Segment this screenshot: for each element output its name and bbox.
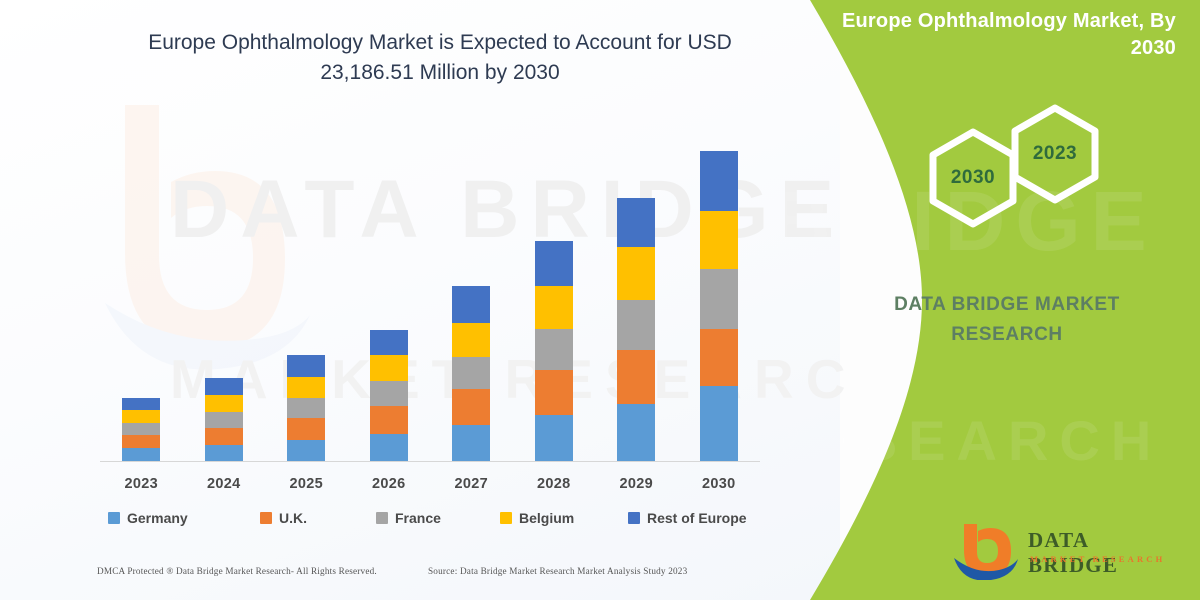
bar-segment-rest-of-europe-2028[interactable] (535, 241, 573, 286)
legend-swatch-icon (108, 512, 120, 524)
footer-copyright: DMCA Protected ® Data Bridge Market Rese… (97, 566, 377, 576)
panel-title: Europe Ophthalmology Market, By 2030 (836, 8, 1176, 62)
bar-segment-france-2028[interactable] (535, 329, 573, 370)
green-side-panel: BRIDGE RESEARCH Europe Ophthalmology Mar… (780, 0, 1200, 600)
x-label-2024: 2024 (189, 476, 259, 492)
bar-2024[interactable] (205, 378, 243, 461)
legend-swatch-icon (500, 512, 512, 524)
bar-segment-france-2024[interactable] (205, 412, 243, 428)
bar-segment-u-k--2025[interactable] (287, 418, 325, 440)
legend-swatch-icon (376, 512, 388, 524)
bar-segment-rest-of-europe-2024[interactable] (205, 378, 243, 395)
footer-source: Source: Data Bridge Market Research Mark… (428, 566, 687, 576)
legend-label: U.K. (279, 510, 307, 526)
legend-swatch-icon (260, 512, 272, 524)
bar-segment-france-2027[interactable] (452, 357, 490, 389)
x-label-2026: 2026 (354, 476, 424, 492)
bar-segment-belgium-2028[interactable] (535, 286, 573, 329)
bar-segment-germany-2023[interactable] (122, 448, 160, 461)
bar-segment-germany-2026[interactable] (370, 434, 408, 461)
bar-segment-france-2029[interactable] (617, 300, 655, 350)
legend-item-germany[interactable]: Germany (108, 510, 188, 526)
brand-line-2: RESEARCH (842, 320, 1172, 350)
bar-segment-germany-2030[interactable] (700, 386, 738, 461)
bar-2025[interactable] (287, 355, 325, 461)
legend-item-rest-of-europe[interactable]: Rest of Europe (628, 510, 747, 526)
bar-segment-belgium-2024[interactable] (205, 395, 243, 412)
legend-item-france[interactable]: France (376, 510, 441, 526)
bar-segment-u-k--2029[interactable] (617, 350, 655, 404)
brand-line-1: DATA BRIDGE MARKET (842, 290, 1172, 320)
x-label-2029: 2029 (601, 476, 671, 492)
bar-segment-germany-2024[interactable] (205, 445, 243, 461)
bar-segment-rest-of-europe-2029[interactable] (617, 198, 655, 247)
bar-segment-u-k--2024[interactable] (205, 428, 243, 445)
chart-legend: GermanyU.K.FranceBelgiumRest of Europe (108, 510, 748, 536)
bar-segment-u-k--2028[interactable] (535, 370, 573, 415)
bar-segment-rest-of-europe-2023[interactable] (122, 398, 160, 410)
bar-segment-belgium-2026[interactable] (370, 355, 408, 381)
infographic-canvas: DATA BRIDGE MARKET RESEARCH Europe Ophth… (0, 0, 1200, 600)
bar-segment-u-k--2030[interactable] (700, 329, 738, 386)
x-axis-line (100, 461, 760, 462)
bar-segment-france-2030[interactable] (700, 269, 738, 329)
bar-segment-germany-2027[interactable] (452, 425, 490, 461)
bar-segment-germany-2028[interactable] (535, 415, 573, 461)
logo-b-icon (952, 522, 1026, 580)
plot-area (100, 120, 760, 462)
bar-2029[interactable] (617, 198, 655, 461)
svg-text:RESEARCH: RESEARCH (780, 409, 1162, 472)
bar-segment-france-2026[interactable] (370, 381, 408, 406)
bar-segment-u-k--2023[interactable] (122, 435, 160, 448)
company-logo: DATA BRIDGE MARKET RESEARCH (950, 520, 1180, 582)
bar-2023[interactable] (122, 398, 160, 461)
bar-segment-rest-of-europe-2026[interactable] (370, 330, 408, 355)
bar-segment-rest-of-europe-2027[interactable] (452, 286, 490, 323)
bar-2026[interactable] (370, 330, 408, 461)
x-axis-labels: 20232024202520262027202820292030 (100, 476, 760, 498)
bar-2027[interactable] (452, 286, 490, 461)
bar-segment-rest-of-europe-2030[interactable] (700, 151, 738, 211)
bar-segment-belgium-2027[interactable] (452, 323, 490, 357)
hexagon-label-2023: 2023 (1018, 143, 1092, 165)
x-label-2028: 2028 (519, 476, 589, 492)
legend-label: Belgium (519, 510, 574, 526)
bar-segment-germany-2025[interactable] (287, 440, 325, 461)
bar-segment-u-k--2027[interactable] (452, 389, 490, 425)
bar-segment-belgium-2030[interactable] (700, 211, 738, 269)
hexagon-label-2030: 2030 (936, 167, 1010, 189)
legend-item-u-k-[interactable]: U.K. (260, 510, 307, 526)
bar-segment-belgium-2025[interactable] (287, 377, 325, 398)
x-label-2025: 2025 (271, 476, 341, 492)
logo-title: DATA BRIDGE (1028, 528, 1180, 578)
bar-segment-france-2025[interactable] (287, 398, 325, 418)
legend-swatch-icon (628, 512, 640, 524)
legend-label: Rest of Europe (647, 510, 747, 526)
x-label-2027: 2027 (436, 476, 506, 492)
bar-segment-germany-2029[interactable] (617, 404, 655, 461)
hexagon-badges: 2030 2023 (925, 100, 1125, 230)
stacked-bar-chart (100, 120, 760, 470)
legend-item-belgium[interactable]: Belgium (500, 510, 574, 526)
page-title: Europe Ophthalmology Market is Expected … (120, 28, 760, 89)
x-label-2023: 2023 (106, 476, 176, 492)
bar-2028[interactable] (535, 241, 573, 461)
bar-segment-france-2023[interactable] (122, 423, 160, 435)
legend-label: Germany (127, 510, 188, 526)
bar-segment-belgium-2029[interactable] (617, 247, 655, 300)
logo-subtitle: MARKET RESEARCH (1030, 554, 1165, 564)
bar-segment-u-k--2026[interactable] (370, 406, 408, 434)
legend-label: France (395, 510, 441, 526)
bar-segment-rest-of-europe-2025[interactable] (287, 355, 325, 377)
bar-2030[interactable] (700, 151, 738, 461)
x-label-2030: 2030 (684, 476, 754, 492)
hexagon-outlines (925, 100, 1125, 230)
brand-wordmark: DATA BRIDGE MARKET RESEARCH (842, 290, 1172, 351)
bar-segment-belgium-2023[interactable] (122, 410, 160, 423)
